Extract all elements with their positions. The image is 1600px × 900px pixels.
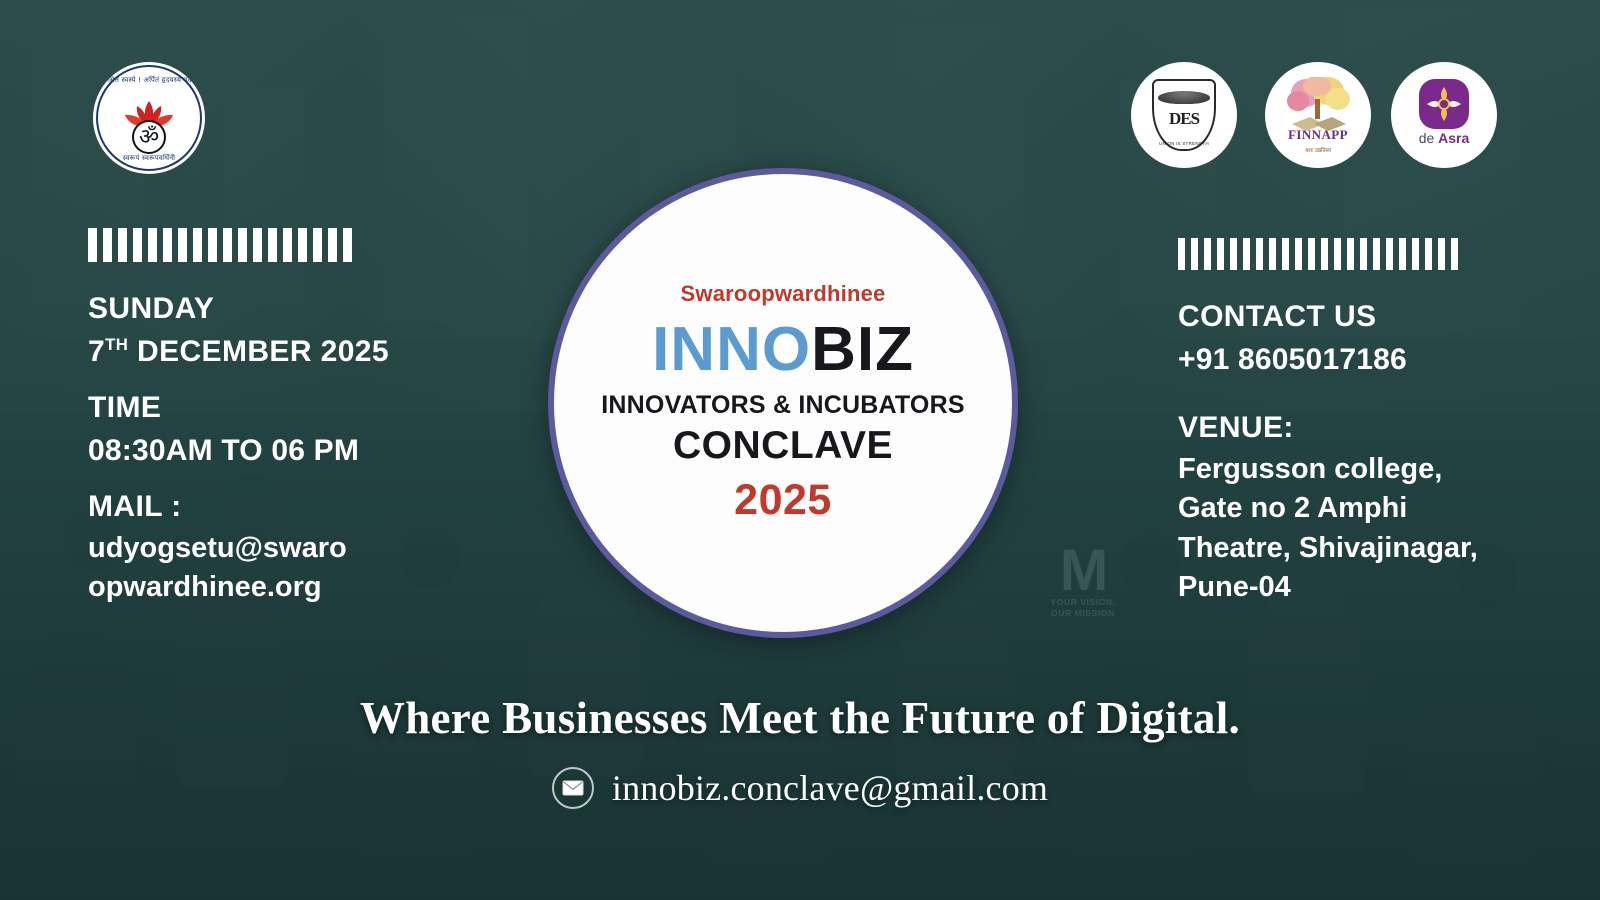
decorative-bar xyxy=(1321,238,1328,270)
event-day: SUNDAY xyxy=(88,288,488,331)
decorative-bar xyxy=(1334,238,1341,270)
time-value: 08:30AM TO 06 PM xyxy=(88,430,488,473)
decorative-bar xyxy=(148,228,157,262)
des-monogram: DES xyxy=(1152,109,1216,129)
venue-line-3: Theatre, Shivajinagar, xyxy=(1178,529,1578,568)
hero-title-biz: BIZ xyxy=(811,315,914,384)
event-date-number: 7 xyxy=(88,335,105,368)
event-poster: विकसितं स्वस्ये ! अर्पितं हृदयस्य वदः !!… xyxy=(0,0,1600,900)
decorative-bar xyxy=(1412,238,1419,270)
venue-line-1: Fergusson college, xyxy=(1178,450,1578,489)
decorative-bar xyxy=(253,228,262,262)
decorative-bar xyxy=(193,228,202,262)
hero-subtitle: INNOVATORS & INCUBATORS xyxy=(601,391,964,420)
decorative-bar xyxy=(1425,238,1432,270)
time-label: TIME xyxy=(88,387,488,430)
hero-event: CONCLAVE xyxy=(673,424,893,468)
asra-diamond-icon xyxy=(1419,79,1469,129)
decorative-bar xyxy=(103,228,112,262)
decorative-bars-left xyxy=(88,228,488,262)
decorative-bar xyxy=(178,228,187,262)
decorative-bar xyxy=(118,228,127,262)
de-asra-prefix: de xyxy=(1419,130,1438,146)
envelope-icon xyxy=(552,767,594,809)
decorative-bar xyxy=(1386,238,1393,270)
contact-block: CONTACT US +91 8605017186 xyxy=(1178,296,1578,381)
hero-title: INNOBIZ xyxy=(652,319,914,381)
decorative-bar xyxy=(1308,238,1315,270)
decorative-bar xyxy=(1347,238,1354,270)
finnapp-subtitle: यशः उन्नतिस्य xyxy=(1276,146,1360,154)
decorative-bar xyxy=(1269,238,1276,270)
decorative-bar xyxy=(1438,238,1445,270)
venue-line-4: Pune-04 xyxy=(1178,568,1578,607)
decorative-bar xyxy=(1178,238,1185,270)
decorative-bar xyxy=(1230,238,1237,270)
finnapp-icon: FINNAPP यशः उन्नतिस्य xyxy=(1276,73,1360,157)
contact-email-row[interactable]: innobiz.conclave@gmail.com xyxy=(0,767,1600,809)
decorative-bar xyxy=(313,228,322,262)
contact-details-column: CONTACT US +91 8605017186 VENUE: Ferguss… xyxy=(1178,238,1578,622)
decorative-bar xyxy=(1399,238,1406,270)
event-date-rest: DECEMBER 2025 xyxy=(128,335,389,368)
contact-phone[interactable]: +91 8605017186 xyxy=(1178,339,1578,382)
decorative-bar xyxy=(1243,238,1250,270)
de-asra-logo: de Asra xyxy=(1391,62,1497,168)
poster-tagline: Where Businesses Meet the Future of Digi… xyxy=(0,692,1600,744)
decorative-bar xyxy=(88,228,97,262)
mail-value-line2[interactable]: opwardhinee.org xyxy=(88,568,488,607)
hero-year: 2025 xyxy=(734,476,832,525)
swaroopwardhinee-emblem: विकसितं स्वस्ये ! अर्पितं हृदयस्य वदः !!… xyxy=(93,62,205,174)
decorative-bar xyxy=(133,228,142,262)
hero-title-inno: INNO xyxy=(652,315,811,384)
decorative-bar xyxy=(283,228,292,262)
emblem-devanagari-top: विकसितं स्वस्ये ! अर्पितं हृदयस्य वदः !! xyxy=(93,76,205,85)
event-date: 7TH DECEMBER 2025 xyxy=(88,331,488,374)
des-motto: UNION IS STRENGTH xyxy=(1152,141,1216,146)
event-date-ordinal: TH xyxy=(105,335,128,354)
decorative-bar xyxy=(223,228,232,262)
decorative-bar xyxy=(1360,238,1367,270)
decorative-bar xyxy=(1256,238,1263,270)
emblem-devanagari-bottom: स्वरूपं स्वरूपवर्धिनी xyxy=(93,154,205,163)
swaroopwardhinee-logo: विकसितं स्वस्ये ! अर्पितं हृदयस्य वदः !!… xyxy=(93,62,205,174)
event-details-column: SUNDAY 7TH DECEMBER 2025 TIME 08:30AM TO… xyxy=(88,228,488,622)
decorative-bar xyxy=(163,228,172,262)
decorative-bar xyxy=(1295,238,1302,270)
asra-glyph-icon xyxy=(1419,79,1469,129)
time-block: TIME 08:30AM TO 06 PM xyxy=(88,387,488,472)
decorative-bar xyxy=(208,228,217,262)
venue-block: VENUE: Fergusson college, Gate no 2 Amph… xyxy=(1178,407,1578,607)
mail-block: MAIL : udyogsetu@swaro opwardhinee.org xyxy=(88,486,488,607)
finnapp-title: FINNAPP xyxy=(1276,127,1360,143)
venue-line-2: Gate no 2 Amphi xyxy=(1178,489,1578,528)
decorative-bars-right xyxy=(1178,238,1578,270)
de-asra-icon: de Asra xyxy=(1402,73,1486,157)
decorative-bar xyxy=(343,228,352,262)
decorative-bar xyxy=(328,228,337,262)
de-asra-title: Asra xyxy=(1438,130,1469,146)
contact-email-text[interactable]: innobiz.conclave@gmail.com xyxy=(612,767,1048,809)
decorative-bar xyxy=(1204,238,1211,270)
venue-label: VENUE: xyxy=(1178,407,1578,450)
decorative-bar xyxy=(1217,238,1224,270)
decorative-bar xyxy=(238,228,247,262)
tree-icon xyxy=(1280,77,1356,133)
mail-value-line1[interactable]: udyogsetu@swaro xyxy=(88,529,488,568)
decorative-bar xyxy=(1191,238,1198,270)
envelope-glyph-icon xyxy=(562,780,584,796)
des-crest-icon: DES UNION IS STRENGTH xyxy=(1152,79,1216,151)
date-block: SUNDAY 7TH DECEMBER 2025 xyxy=(88,288,488,373)
decorative-bar xyxy=(298,228,307,262)
decorative-bar xyxy=(1282,238,1289,270)
contact-label: CONTACT US xyxy=(1178,296,1578,339)
mail-label: MAIL : xyxy=(88,486,488,529)
decorative-bar xyxy=(1373,238,1380,270)
innobiz-logo-badge: Swaroopwardhinee INNOBIZ INNOVATORS & IN… xyxy=(548,168,1018,638)
finnapp-logo: FINNAPP यशः उन्नतिस्य xyxy=(1265,62,1371,168)
hero-brand: Swaroopwardhinee xyxy=(681,281,886,307)
decorative-bar xyxy=(268,228,277,262)
decorative-bar xyxy=(1451,238,1458,270)
eagle-wing-icon xyxy=(1158,91,1210,104)
de-asra-wordmark: de Asra xyxy=(1402,130,1486,146)
des-crest-logo: DES UNION IS STRENGTH xyxy=(1131,62,1237,168)
om-icon: ॐ xyxy=(132,120,166,154)
